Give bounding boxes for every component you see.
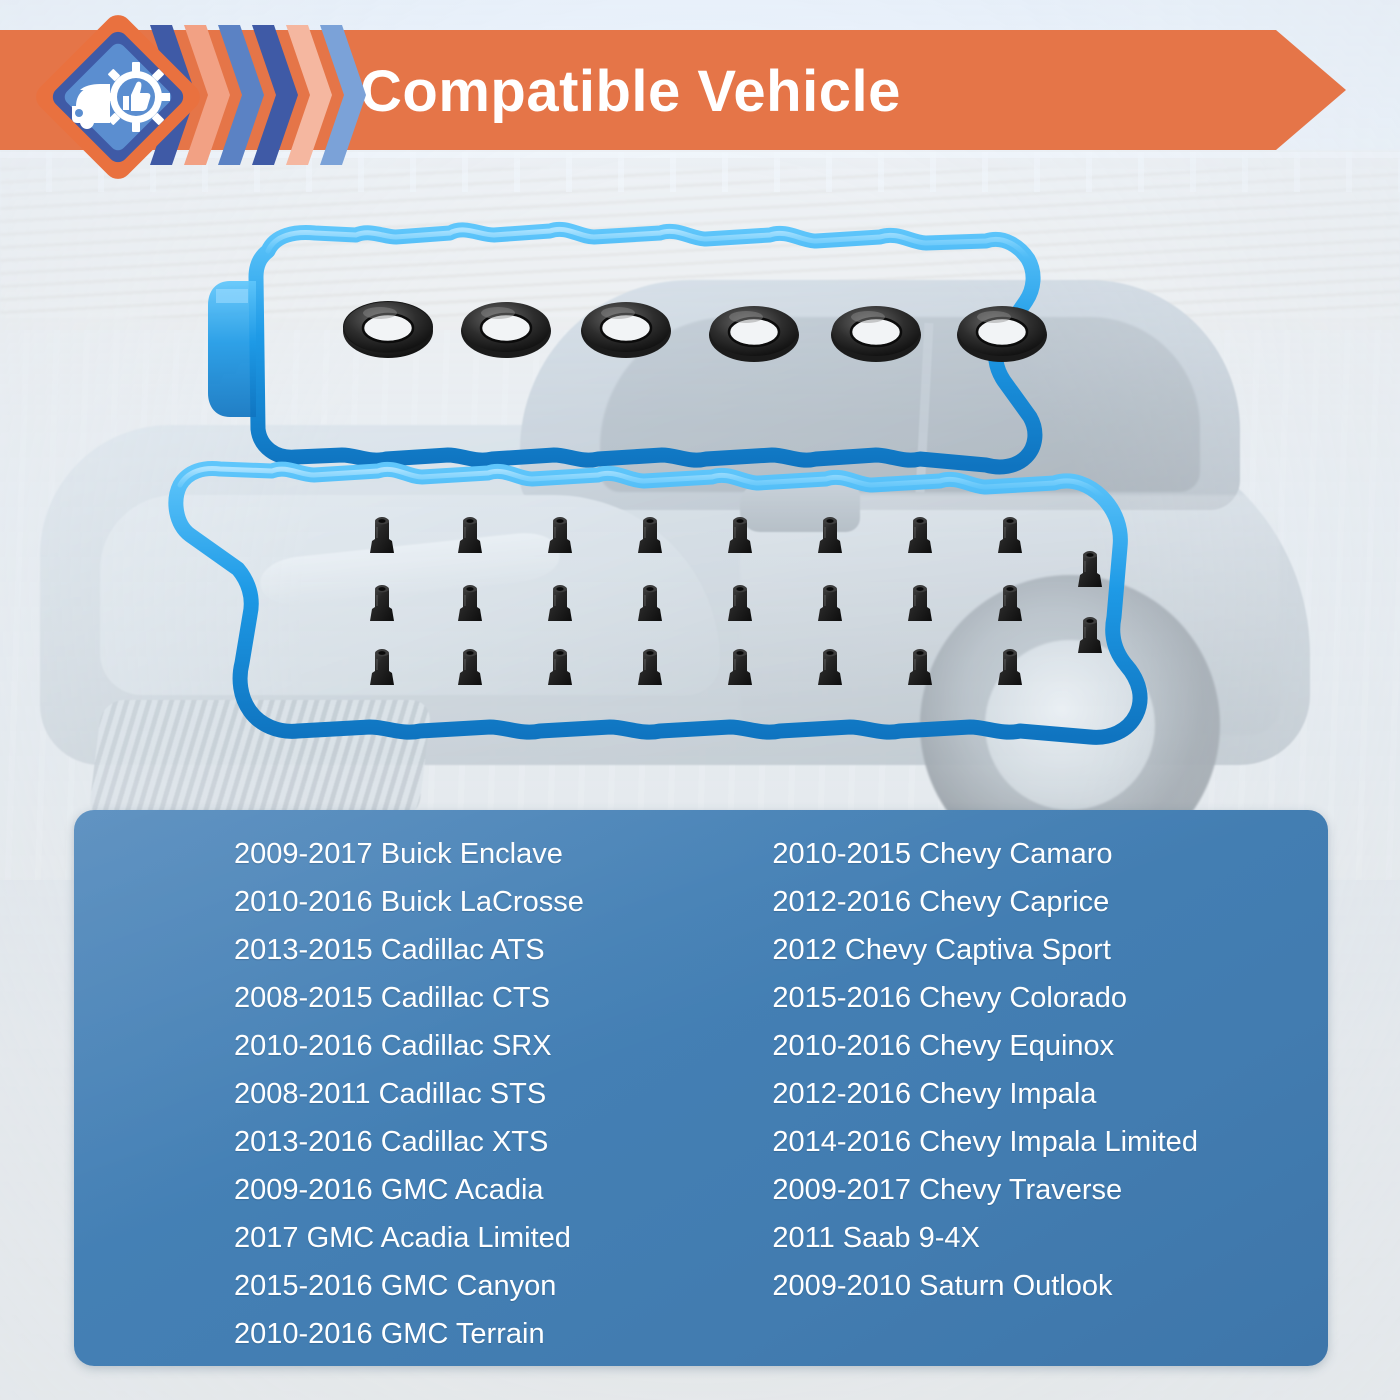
- valve-stem-seal: [365, 515, 399, 555]
- vehicle-list-item: 2010-2016 GMC Terrain: [234, 1310, 682, 1358]
- valve-stem-seal: [543, 515, 577, 555]
- vehicle-list-item: 2014-2016 Chevy Impala Limited: [772, 1118, 1328, 1166]
- valve-stem-seal: [453, 583, 487, 623]
- camshaft-seal-ring: [460, 297, 552, 359]
- valve-stem-seal: [453, 515, 487, 555]
- vehicle-list-item: 2015-2016 GMC Canyon: [234, 1262, 682, 1310]
- valve-stem-seal: [903, 647, 937, 687]
- valve-stem-seal: [365, 647, 399, 687]
- vehicle-list-item: 2012-2016 Chevy Impala: [772, 1070, 1328, 1118]
- vehicle-list-item: 2008-2015 Cadillac CTS: [234, 974, 682, 1022]
- vehicle-list-right: 2010-2015 Chevy Camaro 2012-2016 Chevy C…: [682, 810, 1328, 1366]
- vehicle-list-item: 2009-2017 Buick Enclave: [234, 830, 682, 878]
- valve-stem-seal: [633, 515, 667, 555]
- vehicle-list-item: 2009-2017 Chevy Traverse: [772, 1166, 1328, 1214]
- valve-stem-seal: [903, 515, 937, 555]
- valve-stem-seal: [365, 583, 399, 623]
- vehicle-list-item: 2010-2016 Cadillac SRX: [234, 1022, 682, 1070]
- camshaft-seal-ring: [830, 301, 922, 363]
- vehicle-list-item: 2011 Saab 9-4X: [772, 1214, 1328, 1262]
- valve-stem-seal: [813, 515, 847, 555]
- valve-stem-seal: [993, 647, 1027, 687]
- gasket-illustration: [120, 185, 1280, 805]
- product-image: [120, 185, 1280, 805]
- vehicle-list-item: 2013-2016 Cadillac XTS: [234, 1118, 682, 1166]
- vehicle-list-left: 2009-2017 Buick Enclave 2010-2016 Buick …: [74, 810, 682, 1366]
- camshaft-seal-ring: [708, 301, 800, 363]
- valve-stem-seal: [543, 583, 577, 623]
- valve-stem-seal: [1073, 549, 1107, 589]
- vehicle-list-item: 2015-2016 Chevy Colorado: [772, 974, 1328, 1022]
- valve-stem-seal: [633, 647, 667, 687]
- vehicle-list-item: 2012 Chevy Captiva Sport: [772, 926, 1328, 974]
- infographic-page: Compatible Vehicle: [0, 0, 1400, 1400]
- valve-stem-seal: [723, 583, 757, 623]
- page-title: Compatible Vehicle: [360, 60, 1300, 124]
- valve-stem-seal: [543, 647, 577, 687]
- upper-gasket-tab: [208, 281, 256, 417]
- vehicle-list-item: 2008-2011 Cadillac STS: [234, 1070, 682, 1118]
- vehicle-list-item: 2013-2015 Cadillac ATS: [234, 926, 682, 974]
- valve-stem-seal: [813, 583, 847, 623]
- camshaft-seal-ring: [342, 297, 434, 359]
- camshaft-seal-ring: [580, 297, 672, 359]
- vehicle-list-item: 2009-2016 GMC Acadia: [234, 1166, 682, 1214]
- valve-stem-seal: [633, 583, 667, 623]
- vehicle-columns: 2009-2017 Buick Enclave 2010-2016 Buick …: [74, 810, 1328, 1366]
- vehicle-list-item: 2010-2016 Chevy Equinox: [772, 1022, 1328, 1070]
- valve-stem-seal: [993, 515, 1027, 555]
- valve-stem-seal: [723, 647, 757, 687]
- valve-stem-seal: [453, 647, 487, 687]
- camshaft-seal-ring: [956, 301, 1048, 363]
- valve-stem-seal: [813, 647, 847, 687]
- vehicle-list-item: 2009-2010 Saturn Outlook: [772, 1262, 1328, 1310]
- vehicle-list-item: 2010-2016 Buick LaCrosse: [234, 878, 682, 926]
- vehicle-list-item: 2012-2016 Chevy Caprice: [772, 878, 1328, 926]
- valve-stem-seal: [1073, 615, 1107, 655]
- vehicle-list-item: 2017 GMC Acadia Limited: [234, 1214, 682, 1262]
- compatible-vehicles-panel: 2009-2017 Buick Enclave 2010-2016 Buick …: [74, 810, 1328, 1366]
- compatibility-badge: [38, 18, 198, 176]
- vehicle-list-item: 2010-2015 Chevy Camaro: [772, 830, 1328, 878]
- car-gear-thumbsup-icon: [66, 60, 170, 134]
- valve-stem-seal: [723, 515, 757, 555]
- valve-stem-seal: [903, 583, 937, 623]
- valve-stem-seal: [993, 583, 1027, 623]
